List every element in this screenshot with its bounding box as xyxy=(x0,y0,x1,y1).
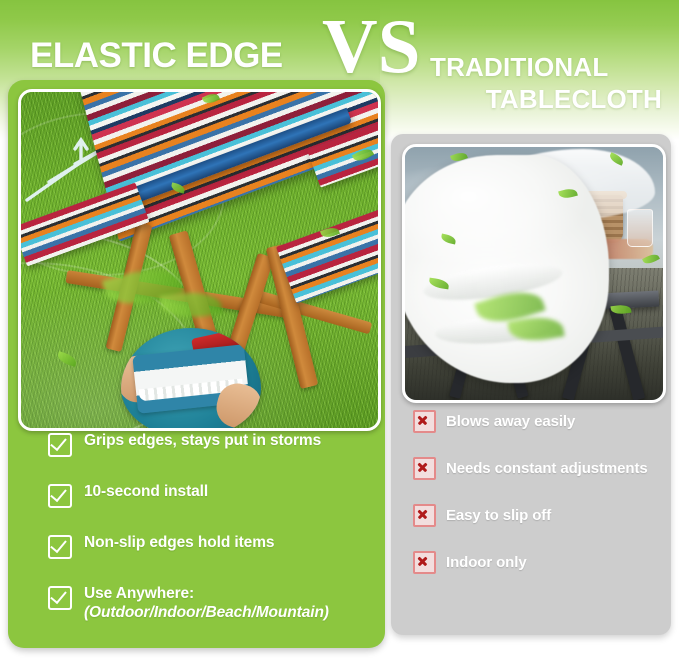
benefits-list: Grips edges, stays put in storms 10-seco… xyxy=(8,432,385,623)
elastic-edge-panel: Grips edges, stays put in storms 10-seco… xyxy=(8,80,385,648)
page-title-right: TRADITIONAL TABLECLOTH xyxy=(430,52,670,115)
page-title-right-line1: TRADITIONAL xyxy=(430,52,608,82)
elastic-edge-photo xyxy=(18,89,381,431)
benefit-label: 10-second install xyxy=(84,483,208,502)
drawback-label: Blows away easily xyxy=(446,413,575,431)
list-item: 10-second install xyxy=(48,483,371,508)
infographic-root: ELASTIC EDGE VS TRADITIONAL TABLECLOTH xyxy=(0,0,679,665)
page-title-right-line2: TABLECLOTH xyxy=(430,84,670,116)
list-item: Needs constant adjustments xyxy=(413,457,659,480)
page-title-left: ELASTIC EDGE xyxy=(30,36,283,76)
drawback-label: Indoor only xyxy=(446,554,527,572)
drawback-label: Easy to slip off xyxy=(446,507,551,525)
traditional-tablecloth-panel: Blows away easily Needs constant adjustm… xyxy=(391,134,671,635)
checkbox-checked-icon xyxy=(48,535,72,559)
x-mark-icon xyxy=(413,504,436,527)
x-mark-icon xyxy=(413,551,436,574)
list-item: Easy to slip off xyxy=(413,504,659,527)
drinking-glass xyxy=(627,209,653,247)
x-mark-icon xyxy=(413,410,436,433)
benefit-label: Use Anywhere: xyxy=(84,585,194,602)
benefit-label: Grips edges, stays put in storms xyxy=(84,432,321,451)
checkbox-checked-icon xyxy=(48,484,72,508)
checkbox-checked-icon xyxy=(48,433,72,457)
traditional-tablecloth-photo xyxy=(402,144,666,403)
benefit-label-group: Use Anywhere: (Outdoor/Indoor/Beach/Moun… xyxy=(84,585,329,623)
vs-label: VS xyxy=(322,8,420,85)
list-item: Non-slip edges hold items xyxy=(48,534,371,559)
x-mark-icon xyxy=(413,457,436,480)
drawback-label: Needs constant adjustments xyxy=(446,460,648,478)
benefit-sublabel: (Outdoor/Indoor/Beach/Mountain) xyxy=(84,604,329,623)
benefit-label: Non-slip edges hold items xyxy=(84,534,274,553)
checkbox-checked-icon xyxy=(48,586,72,610)
list-item: Indoor only xyxy=(413,551,659,574)
list-item: Use Anywhere: (Outdoor/Indoor/Beach/Moun… xyxy=(48,585,371,623)
drawbacks-list: Blows away easily Needs constant adjustm… xyxy=(391,410,671,574)
list-item: Blows away easily xyxy=(413,410,659,433)
list-item: Grips edges, stays put in storms xyxy=(48,432,371,457)
